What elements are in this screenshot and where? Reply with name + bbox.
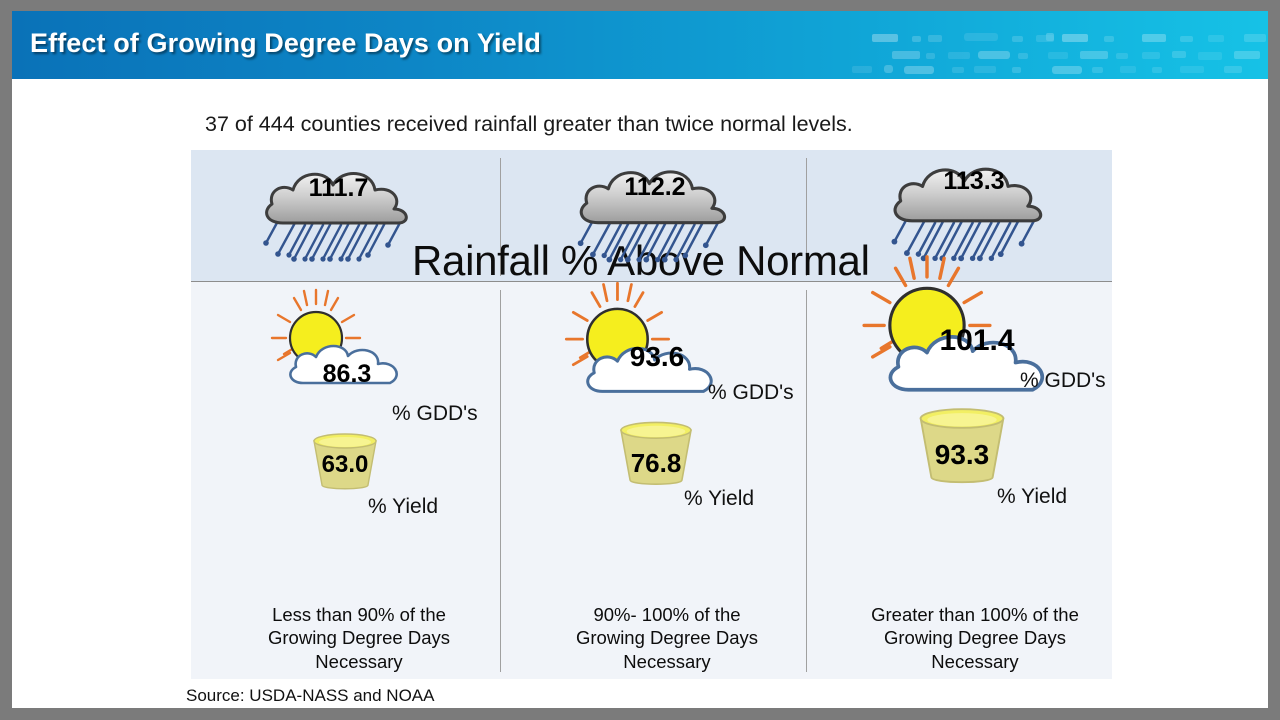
column-caption-col3: Greater than 100% of the Growing Degree … bbox=[835, 603, 1115, 673]
page-title: Effect of Growing Degree Days on Yield bbox=[30, 28, 541, 59]
rainfall-value-col2: 112.2 bbox=[570, 173, 740, 202]
subtitle-text: 37 of 444 counties received rainfall gre… bbox=[205, 112, 853, 137]
yield-caption-col1: % Yield bbox=[368, 495, 438, 519]
caption-line: Necessary bbox=[532, 650, 802, 673]
caption-line: Growing Degree Days bbox=[835, 626, 1115, 649]
basket-grain bbox=[319, 437, 371, 447]
slide-header-banner: Effect of Growing Degree Days on Yield bbox=[12, 11, 1268, 79]
gdd-caption-col3: % GDD's bbox=[1020, 369, 1106, 393]
column-caption-col1: Less than 90% of the Growing Degree Days… bbox=[224, 603, 494, 673]
yield-value-col2: 76.8 bbox=[612, 448, 700, 479]
slide-canvas: Effect of Growing Degree Days on Yield 3… bbox=[12, 11, 1268, 708]
yield-caption-col3: % Yield bbox=[997, 485, 1067, 509]
yield-caption-col2: % Yield bbox=[684, 487, 754, 511]
gdd-caption-col1: % GDD's bbox=[392, 402, 478, 426]
column-caption-col2: 90%- 100% of the Growing Degree Days Nec… bbox=[532, 603, 802, 673]
caption-line: 90%- 100% of the bbox=[532, 603, 802, 626]
caption-line: Less than 90% of the bbox=[224, 603, 494, 626]
caption-line: Greater than 100% of the bbox=[835, 603, 1115, 626]
yield-value-col1: 63.0 bbox=[306, 451, 384, 479]
basket-grain bbox=[627, 426, 686, 437]
source-note: Source: USDA-NASS and NOAA bbox=[186, 686, 434, 706]
caption-line: Growing Degree Days bbox=[224, 626, 494, 649]
basket-grain bbox=[927, 413, 996, 426]
column-divider-bottom-1 bbox=[500, 290, 501, 672]
rain-streaks bbox=[578, 219, 720, 263]
rain-streaks bbox=[263, 219, 402, 262]
caption-line: Necessary bbox=[224, 650, 494, 673]
gdd-value-col3: 101.4 bbox=[902, 324, 1052, 358]
rainfall-value-col1: 111.7 bbox=[256, 174, 421, 203]
rainfall-value-col3: 113.3 bbox=[888, 167, 1060, 196]
gdd-caption-col2: % GDD's bbox=[708, 381, 794, 405]
gdd-value-col2: 93.6 bbox=[582, 341, 732, 373]
gdd-value-col1: 86.3 bbox=[282, 360, 412, 389]
caption-line: Growing Degree Days bbox=[532, 626, 802, 649]
column-divider-bottom-2 bbox=[806, 290, 807, 672]
yield-value-col3: 93.3 bbox=[910, 439, 1014, 471]
caption-line: Necessary bbox=[835, 650, 1115, 673]
